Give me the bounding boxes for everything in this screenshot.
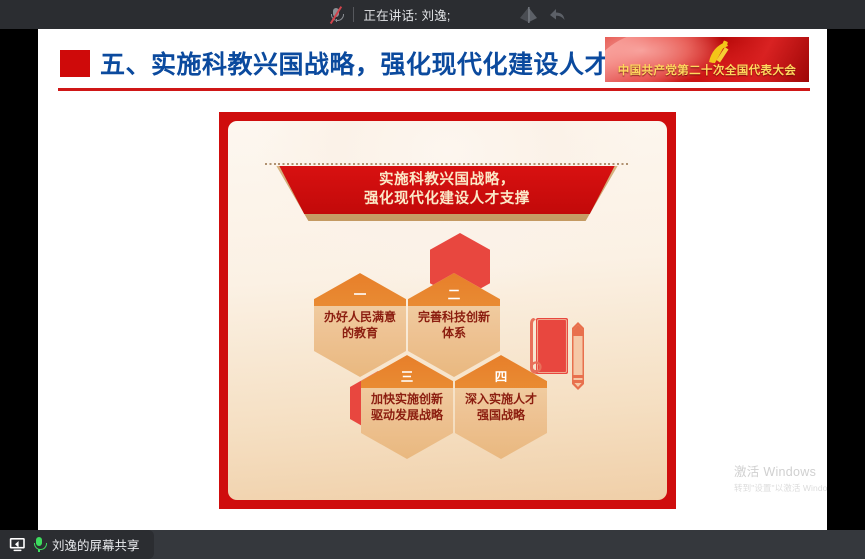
watermark-title: 激活 Windows bbox=[734, 461, 827, 480]
hexagon-body-3: 加快实施创新驱动发展战略 bbox=[361, 389, 453, 459]
top-bar-divider bbox=[353, 7, 354, 22]
congress-banner-text: 中国共产党第二十次全国代表大会 bbox=[605, 62, 809, 78]
presentation-slide: 五、实施科教兴国战略，强化现代化建设人才支撑 中国共产党第二十次全国代表大会 bbox=[38, 29, 827, 530]
hexagon-body-4: 深入实施人才强国战略 bbox=[455, 389, 547, 459]
top-bar-center-group: 正在讲话: 刘逸; bbox=[328, 5, 566, 24]
hexagon-label-4: 深入实施人才强国战略 bbox=[464, 392, 538, 424]
hexagon-label-3: 加快实施创新驱动发展战略 bbox=[370, 392, 444, 424]
ribbon-banner: 实施科教兴国战略， 强化现代化建设人才支撑 bbox=[267, 166, 627, 221]
ribbon-line-1: 实施科教兴国战略， bbox=[379, 172, 515, 190]
top-bar-window-controls bbox=[518, 6, 567, 24]
hexagon-card-3: 三 加快实施创新驱动发展战略 bbox=[361, 355, 453, 459]
shared-screen-stage: 五、实施科教兴国战略，强化现代化建设人才支撑 中国共产党第二十次全国代表大会 bbox=[0, 29, 865, 530]
content-inner-panel: 实施科教兴国战略， 强化现代化建设人才支撑 一 办好人民满意的教育 二 bbox=[228, 121, 667, 500]
content-frame: 实施科教兴国战略， 强化现代化建设人才支撑 一 办好人民满意的教育 二 bbox=[219, 112, 676, 509]
title-bullet-square bbox=[60, 50, 90, 77]
ribbon-line-2: 强化现代化建设人才支撑 bbox=[364, 191, 530, 209]
speaking-status-text: 正在讲话: 刘逸; bbox=[363, 5, 450, 24]
pencil-and-scroll-icon bbox=[528, 310, 590, 398]
screen-share-icon bbox=[9, 537, 26, 552]
hexagon-label-1: 办好人民满意的教育 bbox=[323, 310, 397, 342]
hexagon-number-1: 一 bbox=[314, 273, 406, 306]
dotted-rule bbox=[265, 163, 628, 165]
ribbon-red-body: 实施科教兴国战略， 强化现代化建设人才支撑 bbox=[272, 166, 622, 214]
flip-mirror-icon[interactable] bbox=[518, 6, 544, 24]
microphone-on-icon[interactable] bbox=[33, 536, 45, 553]
hexagon-card-2: 二 完善科技创新体系 bbox=[408, 273, 500, 377]
title-underline bbox=[58, 88, 810, 91]
page-title: 五、实施科教兴国战略，强化现代化建设人才支撑 bbox=[100, 45, 661, 81]
screen-share-label: 刘逸的屏幕共享 bbox=[52, 535, 140, 554]
back-arrow-icon[interactable] bbox=[547, 6, 567, 24]
meeting-bottom-bar: 刘逸的屏幕共享 bbox=[0, 530, 865, 559]
microphone-muted-icon[interactable] bbox=[328, 6, 344, 24]
windows-activation-watermark: 激活 Windows 转到"设置"以激活 Windows。 bbox=[734, 461, 827, 494]
congress-banner: 中国共产党第二十次全国代表大会 bbox=[605, 37, 809, 82]
meeting-top-bar: 正在讲话: 刘逸; bbox=[0, 0, 865, 29]
hexagon-card-1: 一 办好人民满意的教育 bbox=[314, 273, 406, 377]
watermark-subtitle: 转到"设置"以激活 Windows。 bbox=[734, 482, 827, 494]
screen-share-status-chip[interactable]: 刘逸的屏幕共享 bbox=[0, 530, 154, 559]
hexagon-label-2: 完善科技创新体系 bbox=[417, 310, 491, 342]
